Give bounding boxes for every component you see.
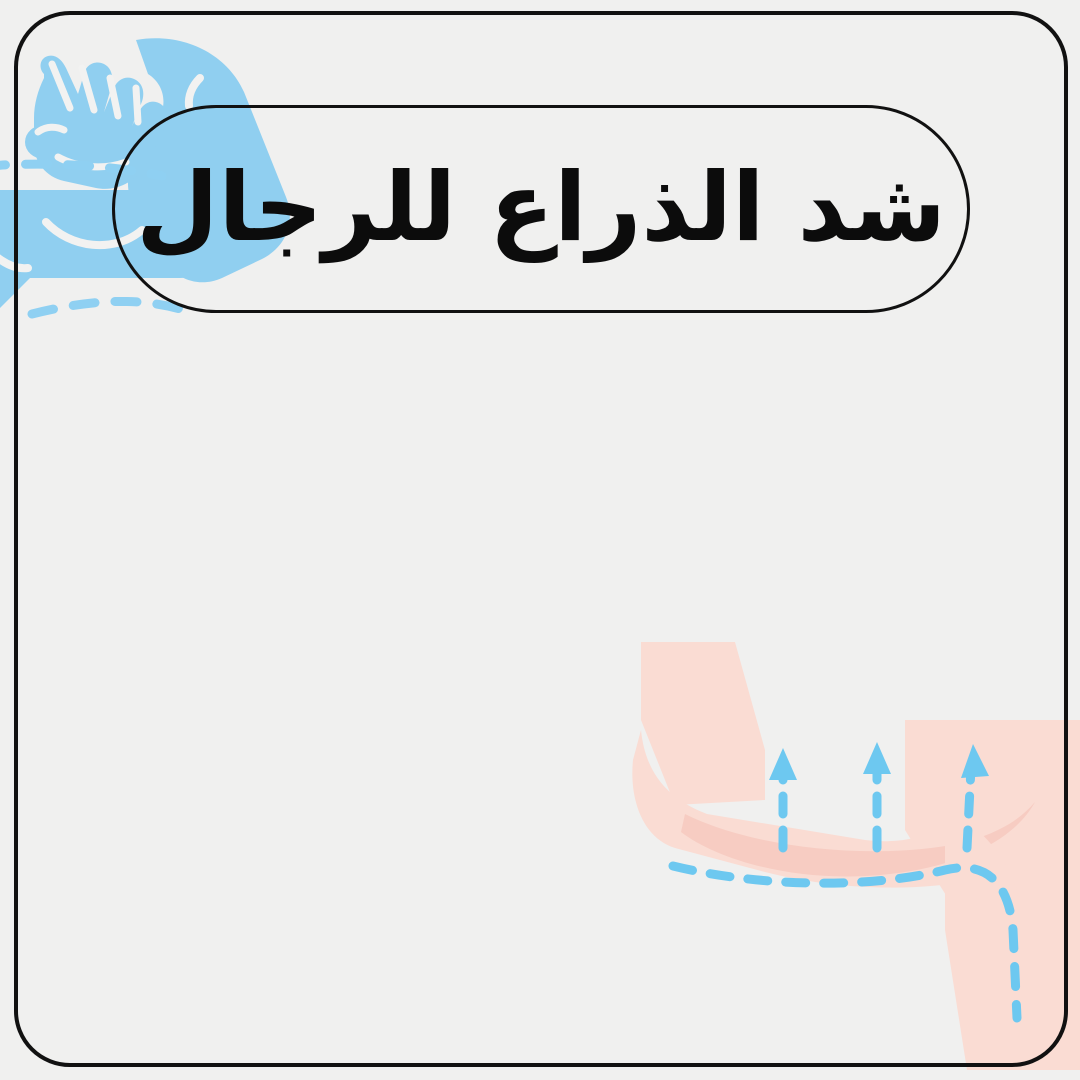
title-card: شد الذراع للرجال	[112, 105, 970, 313]
page-title: شد الذراع للرجال	[136, 159, 946, 259]
poster-canvas: شد الذراع للرجال يستهدف الجلد المترهل وا…	[0, 0, 1080, 1080]
